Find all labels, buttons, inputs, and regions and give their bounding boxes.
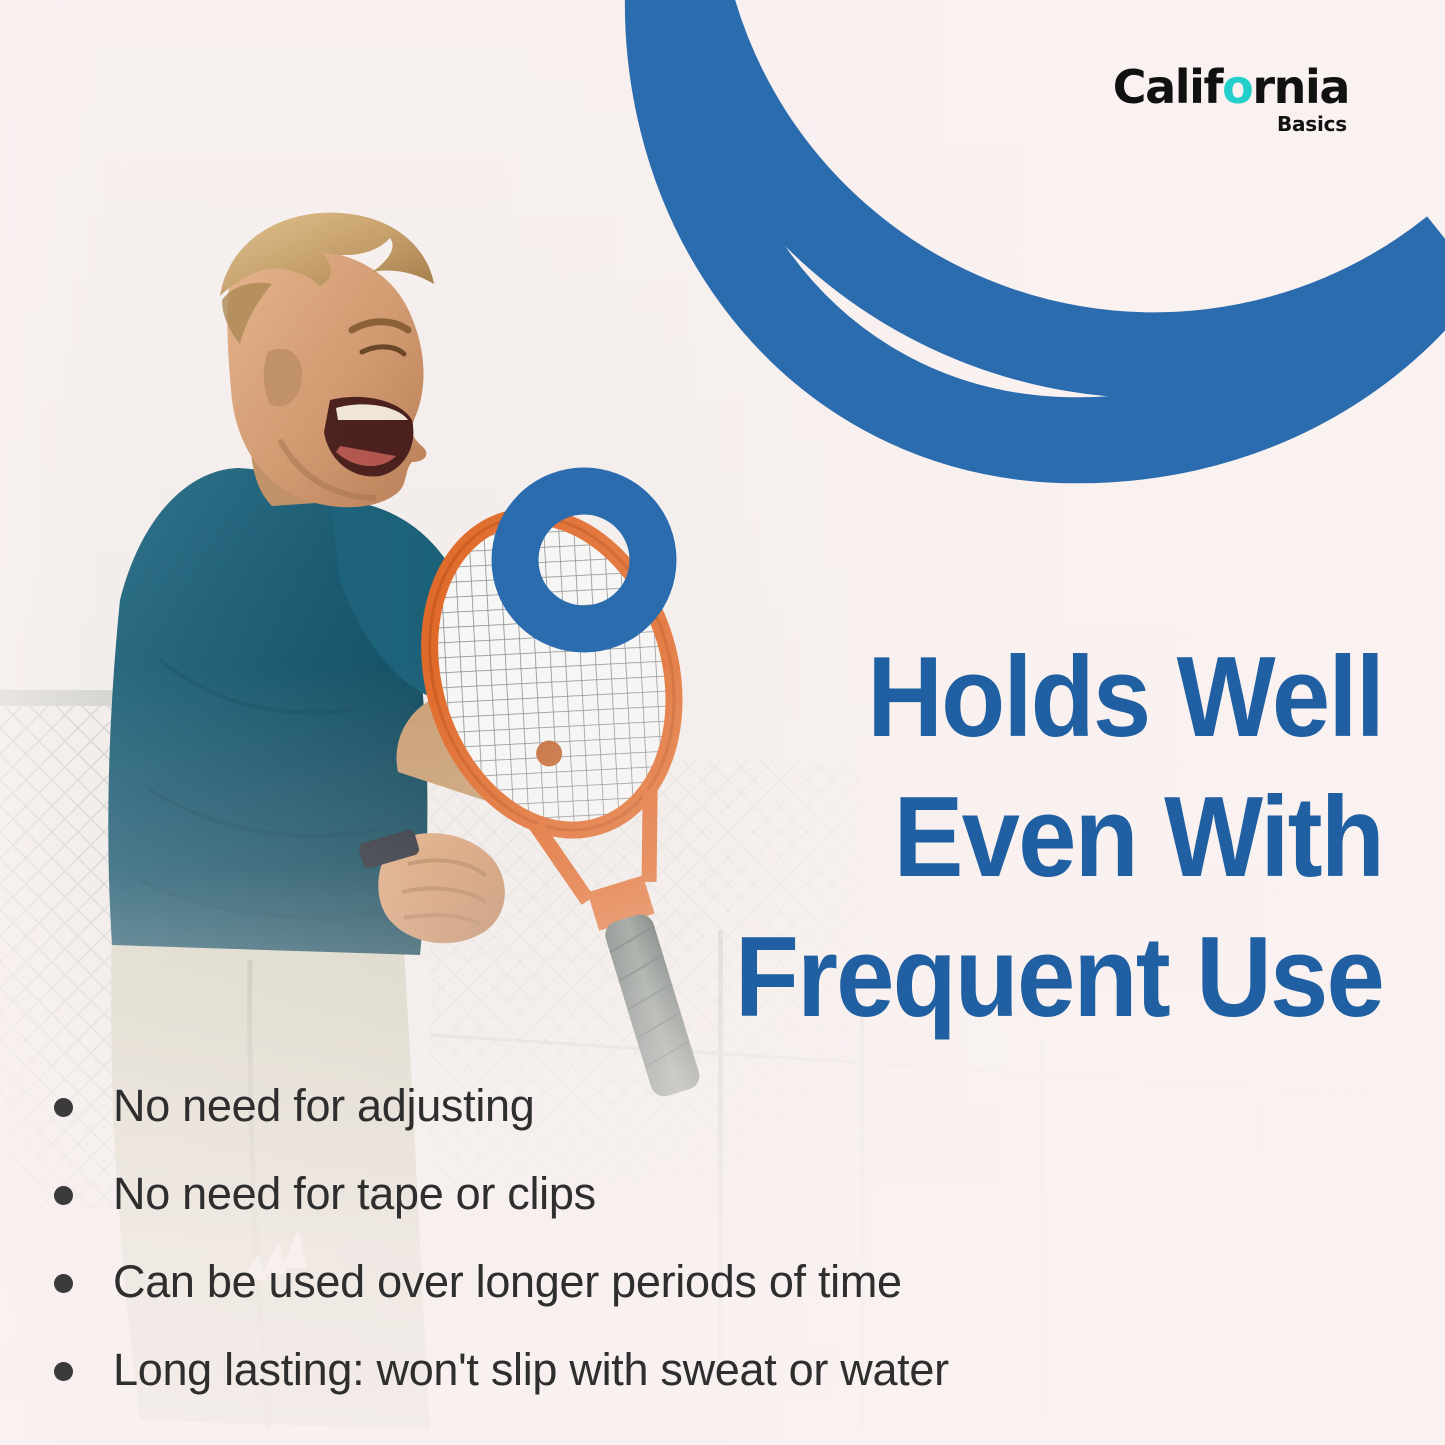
feature-label: No need for tape or clips: [113, 1166, 596, 1222]
feature-list: No need for adjusting No need for tape o…: [54, 1078, 1354, 1430]
headline-line-1: Holds Well: [647, 628, 1383, 768]
logo-word-part1: Calif: [1113, 60, 1222, 114]
logo-accent-letter: o: [1222, 60, 1252, 114]
list-item: Can be used over longer periods of time: [54, 1254, 1354, 1342]
list-item: No need for adjusting: [54, 1078, 1354, 1166]
bullet-dot-icon: [54, 1186, 73, 1205]
page-title: Holds Well Even With Frequent Use: [647, 628, 1383, 1049]
bullet-dot-icon: [54, 1362, 73, 1381]
brand-logo: California Basics: [1113, 64, 1349, 134]
feature-label: No need for adjusting: [113, 1078, 535, 1134]
bullet-dot-icon: [54, 1274, 73, 1293]
feature-label: Can be used over longer periods of time: [113, 1254, 902, 1310]
list-item: No need for tape or clips: [54, 1166, 1354, 1254]
headline-line-2: Even With: [647, 768, 1383, 908]
headline-line-3: Frequent Use: [647, 908, 1383, 1048]
logo-word-part2: rnia: [1252, 60, 1349, 114]
logo-wordmark: California: [1113, 64, 1349, 110]
feature-label: Long lasting: won't slip with sweat or w…: [113, 1342, 949, 1398]
product-feature-poster: California Basics Holds Well Even With F…: [0, 0, 1445, 1445]
bullet-dot-icon: [54, 1098, 73, 1117]
logo-subtitle: Basics: [1113, 114, 1347, 134]
list-item: Long lasting: won't slip with sweat or w…: [54, 1342, 1354, 1430]
